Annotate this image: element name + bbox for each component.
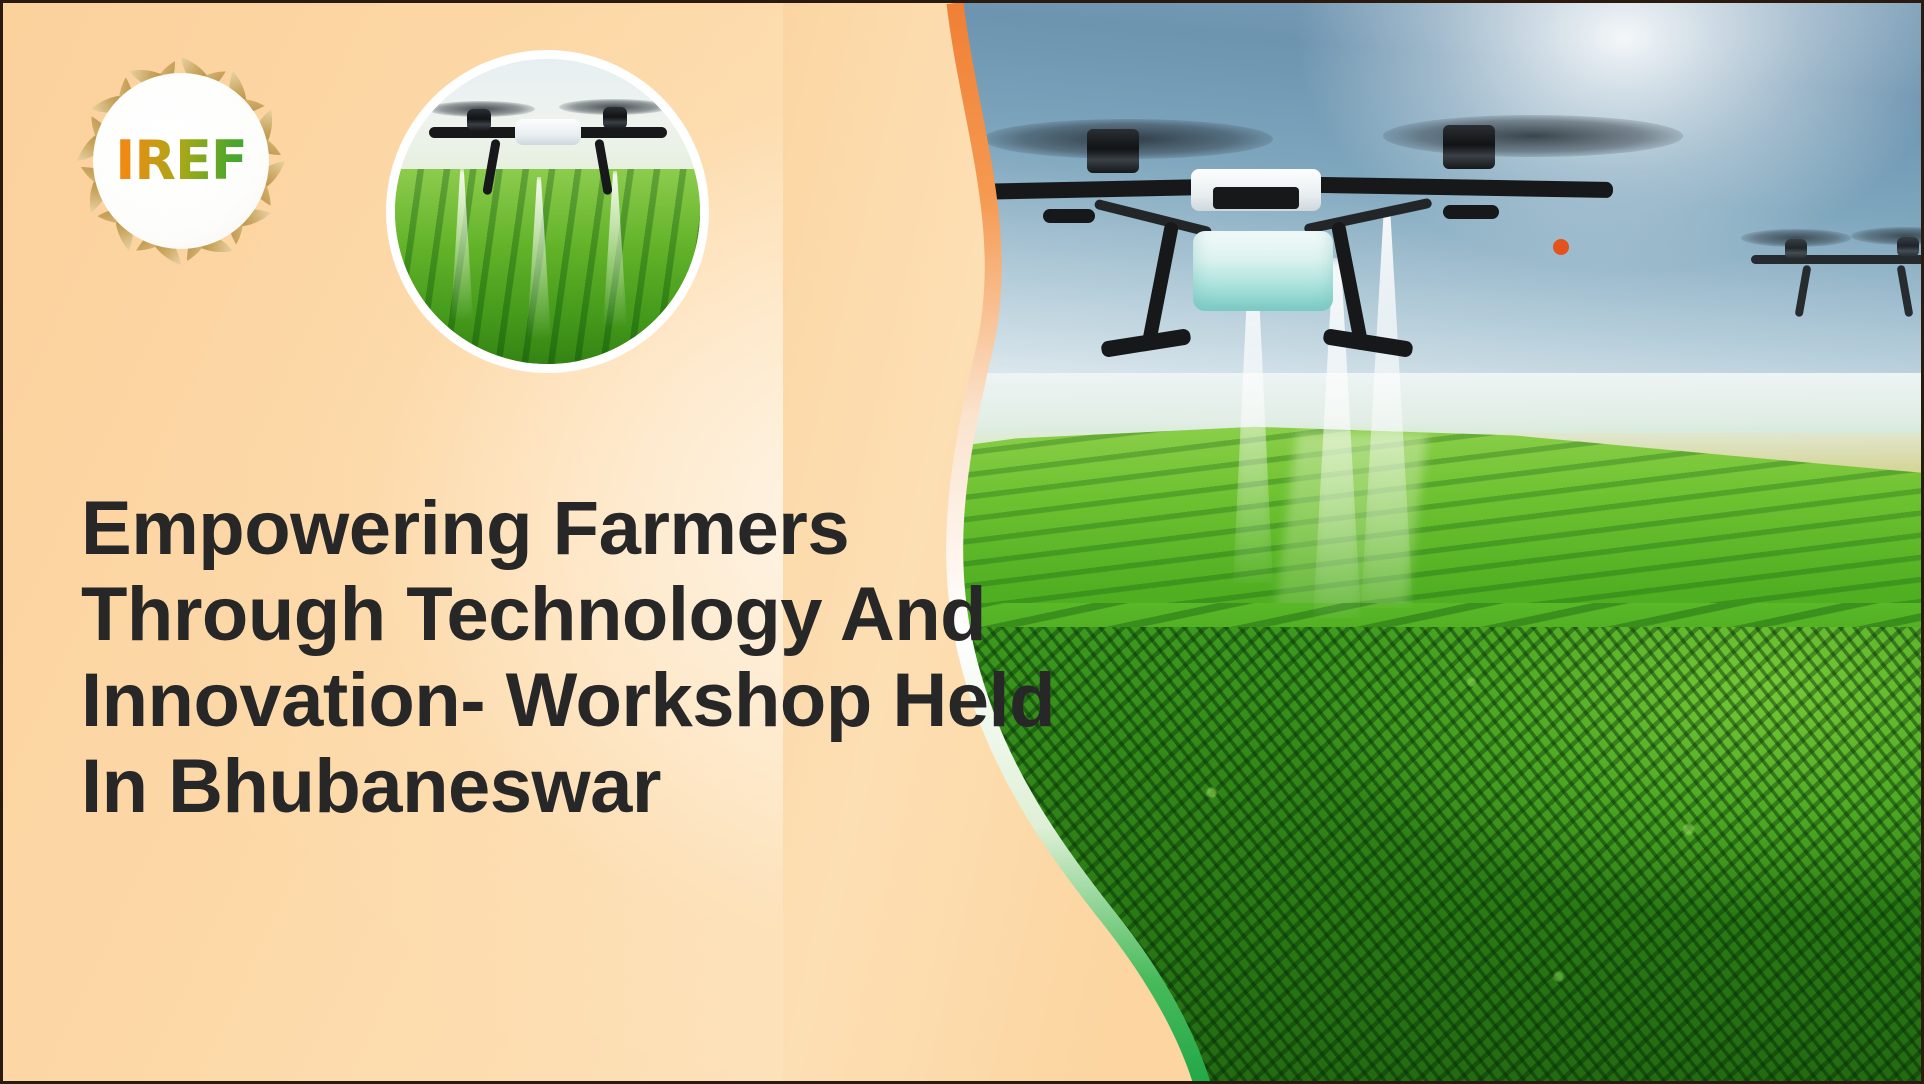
drone-nozzle-arm-right xyxy=(1443,205,1499,219)
news-banner: IREF Empowering Farmers Through Te xyxy=(0,0,1924,1084)
circle-drone-body xyxy=(515,119,581,145)
drone-nozzle-indicator xyxy=(1553,239,1569,255)
drone-nozzle-arm-left xyxy=(1043,209,1095,223)
spray-drone-main xyxy=(1013,63,1653,363)
logo-wordmark: IREF xyxy=(67,134,295,188)
distant-drone-leg-right xyxy=(1897,265,1914,318)
drone-motor-right xyxy=(1443,125,1495,169)
distant-drone-motor-left xyxy=(1785,239,1807,259)
page-title: Empowering Farmers Through Technology An… xyxy=(81,486,1011,830)
drone-motor-left xyxy=(1087,129,1139,173)
circle-drone-motor-right xyxy=(603,107,627,129)
circle-drone-leg-right xyxy=(594,139,613,196)
iref-logo[interactable]: IREF xyxy=(67,47,295,275)
circle-drone-thumbnail xyxy=(386,50,709,373)
spray-drone-distant xyxy=(1751,223,1924,333)
distant-drone-leg-left xyxy=(1795,265,1812,318)
drone-spray-tank xyxy=(1193,231,1333,311)
drone-propeller-right xyxy=(1383,115,1683,157)
headline-line-1: Empowering Farmers xyxy=(81,486,1011,572)
headline-line-2: Through Technology And xyxy=(81,572,1011,658)
headline-line-3: Innovation- Workshop Held xyxy=(81,658,1011,744)
drone-landing-foot-right xyxy=(1322,328,1413,358)
circle-drone-motor-left xyxy=(467,109,491,131)
distant-drone-arm xyxy=(1751,255,1924,264)
headline-line-4: In Bhubaneswar xyxy=(81,744,1011,830)
drone-frame-brace-right xyxy=(1303,198,1432,235)
drone-battery-pack xyxy=(1213,187,1299,209)
distant-drone-motor-right xyxy=(1897,237,1919,257)
circle-thumbnail-drone xyxy=(423,95,673,205)
circle-drone-leg-left xyxy=(482,139,501,196)
circle-thumbnail-image xyxy=(395,59,700,364)
